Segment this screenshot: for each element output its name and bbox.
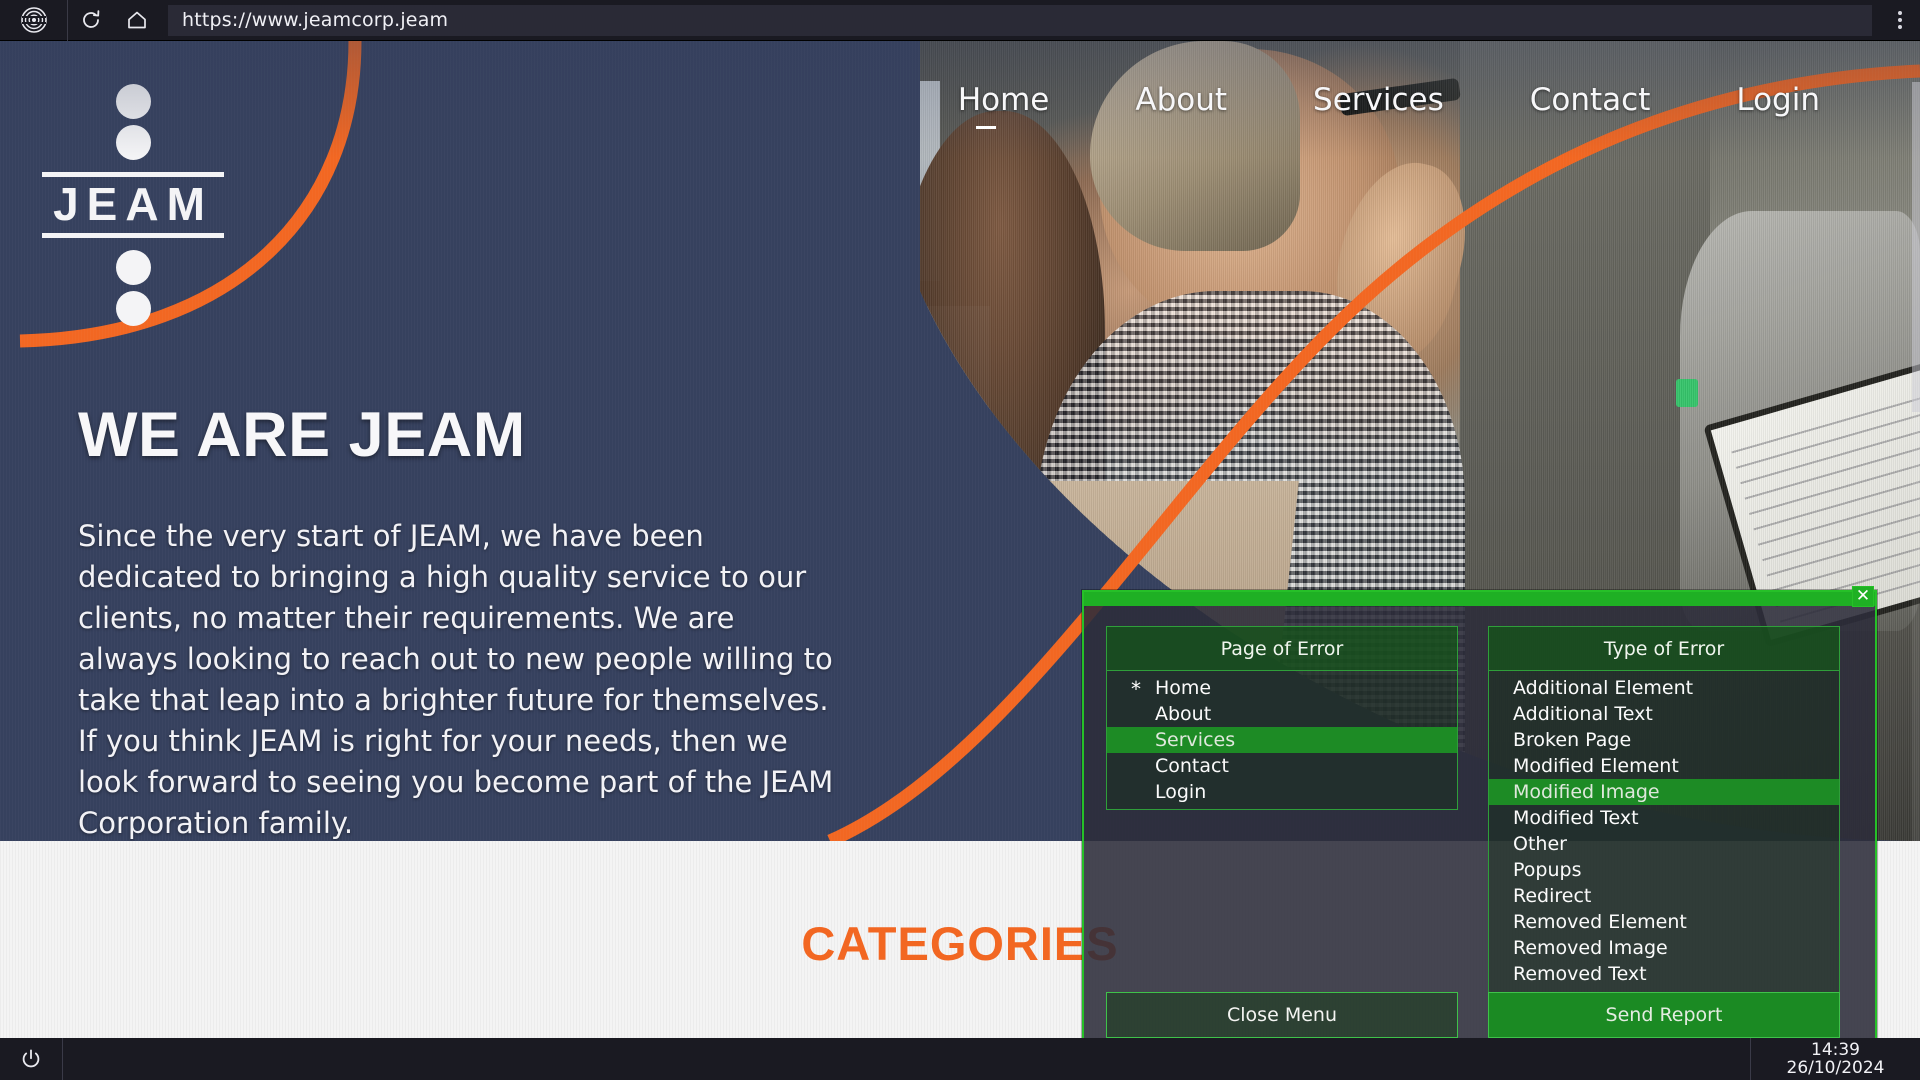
page-option-about[interactable]: About: [1107, 701, 1457, 727]
nav-item-services[interactable]: Services: [1313, 82, 1444, 118]
type-of-error-list: Additional Element Additional Text Broke…: [1489, 671, 1839, 1017]
type-option-removed-element[interactable]: Removed Element: [1489, 909, 1839, 935]
page-of-error-list: * Home About Services Contact Login: [1107, 671, 1457, 809]
hero-title: WE ARE JEAM: [78, 399, 526, 471]
hero-body-text: Since the very start of JEAM, we have be…: [78, 516, 838, 841]
reload-icon[interactable]: [68, 0, 114, 41]
logo-wordmark: JEAM: [42, 172, 224, 238]
send-report-button[interactable]: Send Report: [1488, 992, 1840, 1038]
type-of-error-header: Type of Error: [1489, 627, 1839, 671]
nav-item-home[interactable]: Home: [958, 82, 1050, 118]
type-option-removed-text[interactable]: Removed Text: [1489, 961, 1839, 987]
close-icon[interactable]: ✕: [1852, 586, 1874, 607]
type-of-error-panel: Type of Error Additional Element Additio…: [1488, 626, 1840, 1018]
type-option-modified-image[interactable]: Modified Image: [1489, 779, 1839, 805]
page-option-about-label: About: [1155, 703, 1211, 725]
dialog-titlebar[interactable]: ✕: [1084, 592, 1875, 606]
type-option-broken-page[interactable]: Broken Page: [1489, 727, 1839, 753]
site-navigation: Home About Services Contact Login: [0, 41, 1920, 158]
nav-item-contact[interactable]: Contact: [1530, 82, 1651, 118]
type-option-popups[interactable]: Popups: [1489, 857, 1839, 883]
type-option-modified-text[interactable]: Modified Text: [1489, 805, 1839, 831]
clock-date: 26/10/2024: [1787, 1059, 1885, 1078]
type-option-modified-element[interactable]: Modified Element: [1489, 753, 1839, 779]
page-option-login[interactable]: Login: [1107, 779, 1457, 805]
logo-dot-bottom-1: [116, 250, 151, 285]
page-option-login-label: Login: [1155, 781, 1206, 803]
type-option-additional-text-label: Additional Text: [1513, 703, 1653, 725]
type-option-modified-element-label: Modified Element: [1513, 755, 1679, 777]
type-option-broken-page-label: Broken Page: [1513, 729, 1631, 751]
page-scrollbar[interactable]: [1912, 82, 1920, 1038]
error-report-dialog: ✕ Page of Error * Home About Services Co…: [1082, 590, 1877, 1038]
type-option-additional-element-label: Additional Element: [1513, 677, 1693, 699]
power-icon[interactable]: [0, 1038, 63, 1080]
type-option-other[interactable]: Other: [1489, 831, 1839, 857]
type-option-removed-image-label: Removed Image: [1513, 937, 1668, 959]
page-option-services-label: Services: [1155, 729, 1235, 751]
clock-time: 14:39: [1811, 1041, 1860, 1059]
type-option-additional-element[interactable]: Additional Element: [1489, 675, 1839, 701]
url-text: https://www.jeamcorp.jeam: [182, 9, 448, 31]
page-option-home-label: Home: [1155, 677, 1211, 699]
type-option-removed-image[interactable]: Removed Image: [1489, 935, 1839, 961]
page-of-error-header: Page of Error: [1107, 627, 1457, 671]
kebab-menu-icon[interactable]: [1880, 0, 1920, 41]
type-option-popups-label: Popups: [1513, 859, 1581, 881]
page-option-contact-label: Contact: [1155, 755, 1229, 777]
page-option-contact[interactable]: Contact: [1107, 753, 1457, 779]
logo-dot-bottom-2: [116, 291, 151, 326]
address-bar[interactable]: https://www.jeamcorp.jeam: [168, 5, 1872, 36]
home-icon[interactable]: [114, 0, 160, 41]
type-option-additional-text[interactable]: Additional Text: [1489, 701, 1839, 727]
type-option-redirect[interactable]: Redirect: [1489, 883, 1839, 909]
nav-item-login[interactable]: Login: [1736, 82, 1820, 118]
nav-item-about[interactable]: About: [1135, 82, 1227, 118]
browser-toolbar: https://www.jeamcorp.jeam: [0, 0, 1920, 41]
type-option-modified-image-label: Modified Image: [1513, 781, 1660, 803]
page-option-home[interactable]: * Home: [1107, 675, 1457, 701]
type-option-modified-text-label: Modified Text: [1513, 807, 1639, 829]
selection-star-icon: *: [1131, 677, 1141, 701]
page-scrollbar-thumb[interactable]: [1912, 82, 1920, 412]
page-viewport: JEAM Home About Services Contact Login W…: [0, 41, 1920, 1038]
type-option-other-label: Other: [1513, 833, 1567, 855]
type-option-removed-text-label: Removed Text: [1513, 963, 1647, 985]
taskbar-clock[interactable]: 14:39 26/10/2024: [1750, 1038, 1920, 1080]
close-menu-button[interactable]: Close Menu: [1106, 992, 1458, 1038]
page-of-error-panel: Page of Error * Home About Services Cont…: [1106, 626, 1458, 810]
type-option-removed-element-label: Removed Element: [1513, 911, 1687, 933]
browser-globe-icon[interactable]: [0, 0, 68, 41]
taskbar: 14:39 26/10/2024: [0, 1038, 1920, 1080]
page-option-services[interactable]: Services: [1107, 727, 1457, 753]
type-option-redirect-label: Redirect: [1513, 885, 1591, 907]
